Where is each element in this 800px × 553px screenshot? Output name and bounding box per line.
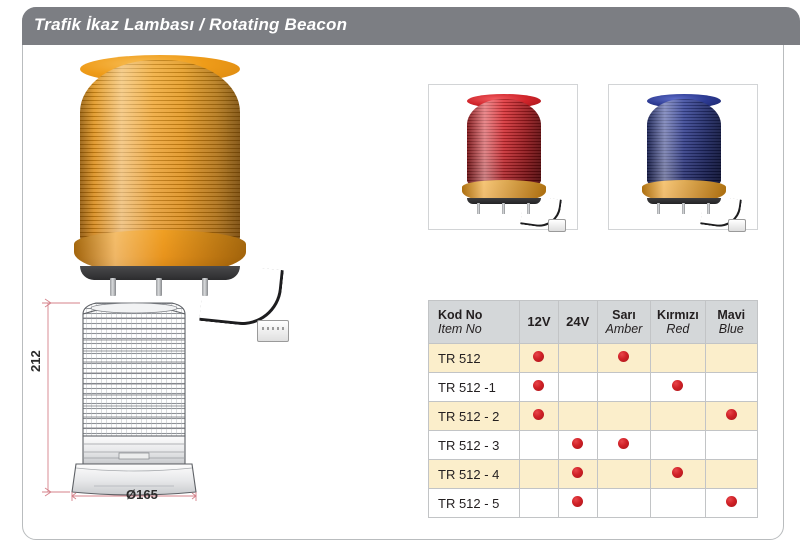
column-header-amber-tr: Sarı bbox=[598, 308, 651, 322]
beacon-mounting-foot bbox=[110, 278, 116, 296]
table-row: TR 512 - 2 bbox=[429, 402, 758, 431]
availability-dot-icon bbox=[572, 496, 583, 507]
column-header-amber-en: Amber bbox=[598, 322, 651, 336]
beacon-connector bbox=[728, 219, 746, 232]
cell-12v bbox=[520, 460, 559, 489]
technical-drawing bbox=[24, 296, 244, 511]
table-row: TR 512 - 3 bbox=[429, 431, 758, 460]
column-header-red: Kırmızı Red bbox=[651, 301, 705, 344]
table-header: Kod No Item No 12V 24V Sarı Amber Kırmız… bbox=[429, 301, 758, 344]
column-header-amber: Sarı Amber bbox=[597, 301, 651, 344]
cell-12v bbox=[520, 402, 559, 431]
column-header-code-en: Item No bbox=[438, 322, 519, 336]
cell-amber bbox=[597, 460, 651, 489]
beacon-connector bbox=[548, 219, 566, 232]
table-row: TR 512 bbox=[429, 344, 758, 373]
drawing-dome-top-ellipse bbox=[91, 303, 177, 313]
specification-table: Kod No Item No 12V 24V Sarı Amber Kırmız… bbox=[428, 300, 758, 518]
cell-24v bbox=[558, 344, 597, 373]
column-header-code-tr: Kod No bbox=[438, 308, 519, 322]
cell-red bbox=[651, 489, 705, 518]
beacon-dome bbox=[80, 60, 240, 245]
beacon-mounting-foot bbox=[657, 203, 660, 214]
table-row: TR 512 - 4 bbox=[429, 460, 758, 489]
column-header-blue-en: Blue bbox=[706, 322, 757, 336]
availability-dot-icon bbox=[533, 351, 544, 362]
drawing-dome bbox=[83, 303, 185, 436]
cell-12v bbox=[520, 344, 559, 373]
availability-dot-icon bbox=[618, 438, 629, 449]
column-header-code: Kod No Item No bbox=[429, 301, 520, 344]
availability-dot-icon bbox=[572, 467, 583, 478]
thumbnail-blue-beacon bbox=[608, 84, 758, 230]
column-header-24v: 24V bbox=[558, 301, 597, 344]
page-title: Trafik İkaz Lambası / Rotating Beacon bbox=[34, 15, 347, 35]
drawing-body-detail bbox=[119, 453, 149, 459]
table-row: TR 512 -1 bbox=[429, 373, 758, 402]
dimension-height-label: 212 bbox=[28, 350, 43, 372]
drawing-body-band bbox=[83, 436, 185, 464]
cell-24v bbox=[558, 373, 597, 402]
beacon-connector bbox=[257, 320, 289, 342]
beacon-dome bbox=[467, 99, 541, 185]
cell-blue bbox=[705, 489, 757, 518]
availability-dot-icon bbox=[533, 409, 544, 420]
cell-12v bbox=[520, 373, 559, 402]
cell-red bbox=[651, 344, 705, 373]
beacon-mounting-foot bbox=[502, 203, 505, 214]
table-row: TR 512 - 5 bbox=[429, 489, 758, 518]
beacon-mounting-foot bbox=[682, 203, 685, 214]
cell-24v bbox=[558, 489, 597, 518]
cell-24v bbox=[558, 431, 597, 460]
cell-red bbox=[651, 373, 705, 402]
cell-blue bbox=[705, 402, 757, 431]
cell-amber bbox=[597, 489, 651, 518]
cell-item-code: TR 512 - 4 bbox=[429, 460, 520, 489]
cell-amber bbox=[597, 373, 651, 402]
availability-dot-icon bbox=[726, 496, 737, 507]
cell-blue bbox=[705, 373, 757, 402]
cell-amber bbox=[597, 344, 651, 373]
cell-12v bbox=[520, 489, 559, 518]
cell-amber bbox=[597, 431, 651, 460]
column-header-red-tr: Kırmızı bbox=[651, 308, 704, 322]
cell-blue bbox=[705, 431, 757, 460]
cell-amber bbox=[597, 402, 651, 431]
cell-red bbox=[651, 460, 705, 489]
thumbnail-red-beacon bbox=[428, 84, 578, 230]
availability-dot-icon bbox=[672, 380, 683, 391]
cell-blue bbox=[705, 344, 757, 373]
beacon-mounting-foot bbox=[477, 203, 480, 214]
cell-red bbox=[651, 402, 705, 431]
column-header-red-en: Red bbox=[651, 322, 704, 336]
cell-red bbox=[651, 431, 705, 460]
availability-dot-icon bbox=[533, 380, 544, 391]
dimension-diameter-label: Ø165 bbox=[126, 487, 158, 502]
cell-item-code: TR 512 - 3 bbox=[429, 431, 520, 460]
cell-item-code: TR 512 -1 bbox=[429, 373, 520, 402]
cell-item-code: TR 512 - 2 bbox=[429, 402, 520, 431]
column-header-blue-tr: Mavi bbox=[706, 308, 757, 322]
column-header-blue: Mavi Blue bbox=[705, 301, 757, 344]
cell-12v bbox=[520, 431, 559, 460]
column-header-12v: 12V bbox=[520, 301, 559, 344]
availability-dot-icon bbox=[672, 467, 683, 478]
cell-24v bbox=[558, 460, 597, 489]
availability-dot-icon bbox=[618, 351, 629, 362]
availability-dot-icon bbox=[726, 409, 737, 420]
availability-dot-icon bbox=[572, 438, 583, 449]
cell-item-code: TR 512 - 5 bbox=[429, 489, 520, 518]
cell-24v bbox=[558, 402, 597, 431]
cell-blue bbox=[705, 460, 757, 489]
table-header-row: Kod No Item No 12V 24V Sarı Amber Kırmız… bbox=[429, 301, 758, 344]
beacon-dome bbox=[647, 99, 721, 185]
beacon-mounting-foot bbox=[156, 278, 162, 296]
title-bar: Trafik İkaz Lambası / Rotating Beacon bbox=[22, 7, 800, 45]
catalog-page: Trafik İkaz Lambası / Rotating Beacon bbox=[0, 0, 800, 553]
table-body: TR 512TR 512 -1TR 512 - 2TR 512 - 3TR 51… bbox=[429, 344, 758, 518]
main-product-image bbox=[52, 52, 292, 302]
cell-item-code: TR 512 bbox=[429, 344, 520, 373]
